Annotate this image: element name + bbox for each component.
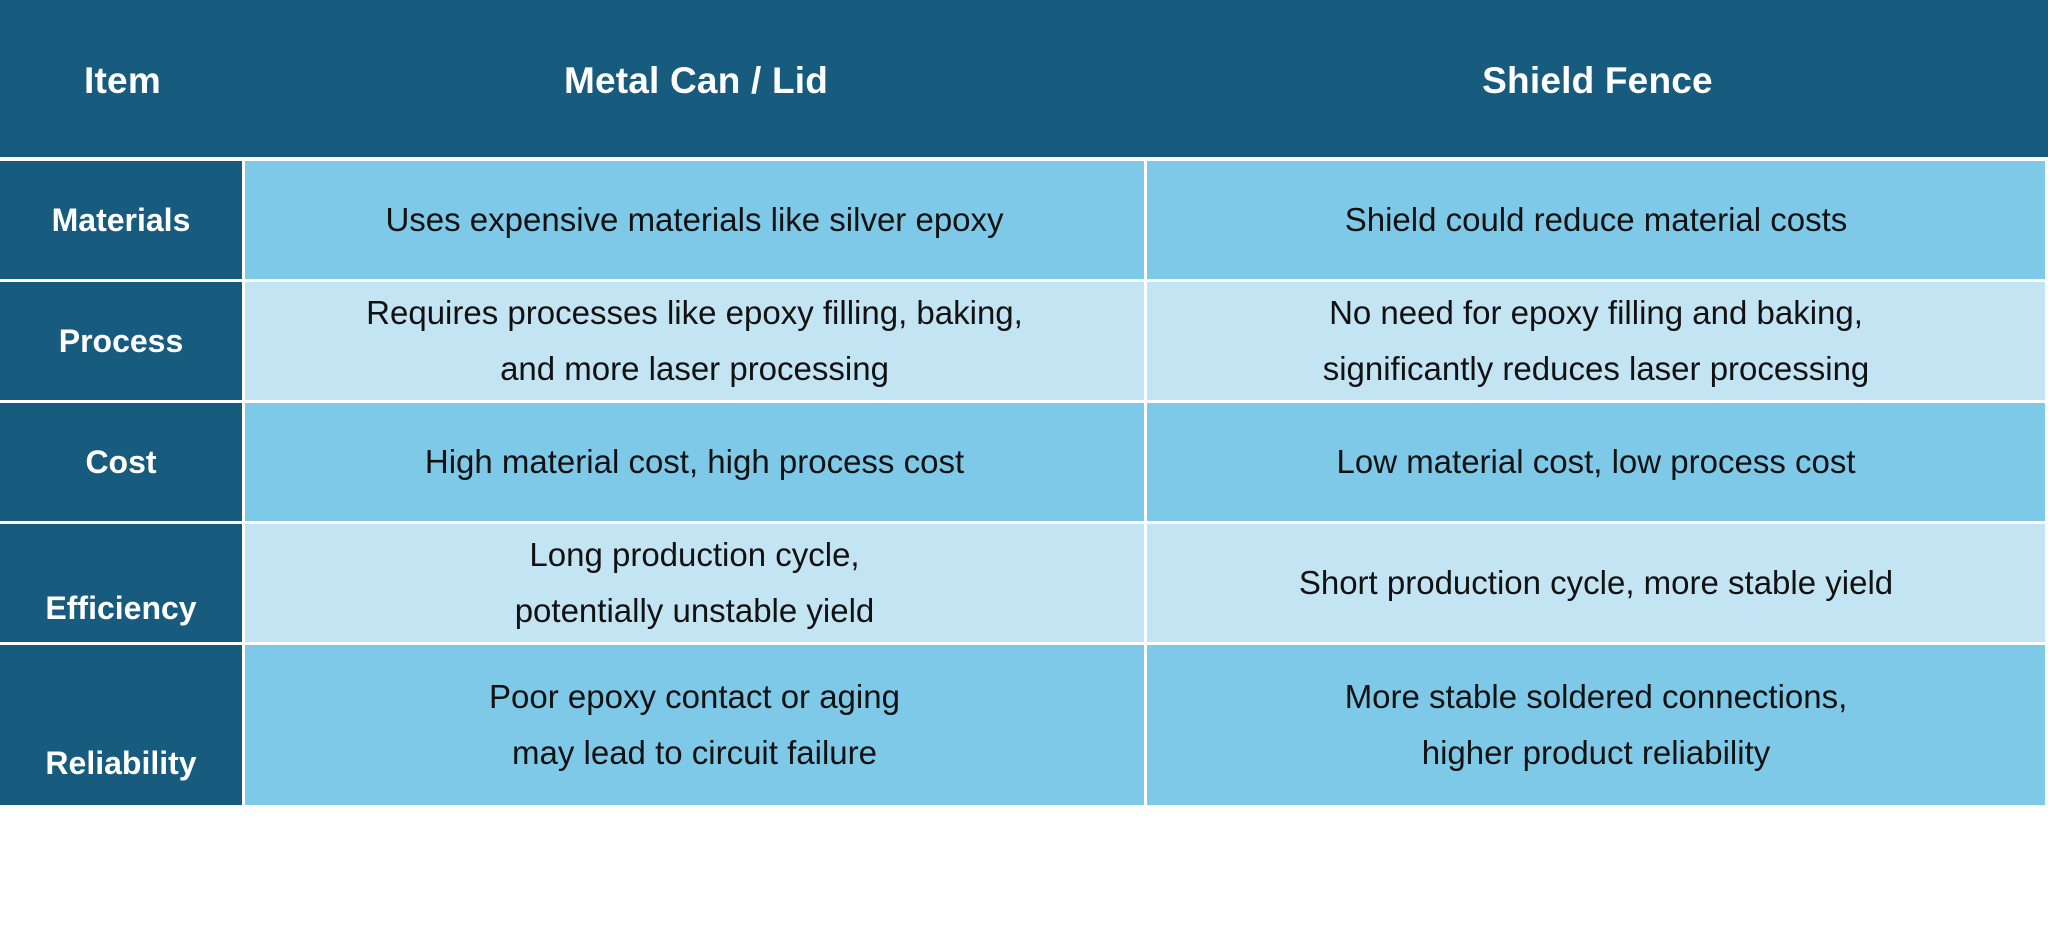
cell-efficiency-shield: Short production cycle, more stable yiel…: [1147, 524, 2045, 642]
cell-text: Poor epoxy contact or aging may lead to …: [263, 669, 1126, 781]
cell-reliability-shield: More stable soldered connections, higher…: [1147, 645, 2045, 805]
cell-text: High material cost, high process cost: [263, 434, 1126, 490]
column-header-metal-can-lid: Metal Can / Lid: [245, 0, 1147, 157]
cell-cost-metal: High material cost, high process cost: [245, 403, 1147, 521]
row-label-process: Process: [0, 282, 245, 400]
table-row: Efficiency Long production cycle, potent…: [0, 524, 2048, 645]
cell-text: More stable soldered connections, higher…: [1165, 669, 2027, 781]
column-header-item: Item: [0, 0, 245, 157]
cell-materials-shield: Shield could reduce material costs: [1147, 161, 2045, 279]
cell-process-shield: No need for epoxy filling and baking, si…: [1147, 282, 2045, 400]
table-body: Materials Uses expensive materials like …: [0, 161, 2048, 941]
cell-text: Long production cycle, potentially unsta…: [263, 527, 1126, 639]
cell-text: Requires processes like epoxy filling, b…: [263, 285, 1126, 397]
table-header-row: Item Metal Can / Lid Shield Fence: [0, 0, 2048, 157]
table-row: Cost High material cost, high process co…: [0, 403, 2048, 524]
row-label-materials: Materials: [0, 161, 245, 279]
row-label-reliability: Reliability: [0, 645, 245, 805]
cell-text: Short production cycle, more stable yiel…: [1165, 555, 2027, 611]
table-row: Process Requires processes like epoxy fi…: [0, 282, 2048, 403]
cell-reliability-metal: Poor epoxy contact or aging may lead to …: [245, 645, 1147, 805]
column-header-shield-fence: Shield Fence: [1147, 0, 2048, 157]
row-label-cost: Cost: [0, 403, 245, 521]
cell-text: Low material cost, low process cost: [1165, 434, 2027, 490]
table-row: Reliability Poor epoxy contact or aging …: [0, 645, 2048, 805]
cell-text: Shield could reduce material costs: [1165, 192, 2027, 248]
table-row: Materials Uses expensive materials like …: [0, 161, 2048, 282]
cell-materials-metal: Uses expensive materials like silver epo…: [245, 161, 1147, 279]
cell-text: Uses expensive materials like silver epo…: [263, 192, 1126, 248]
cell-text: No need for epoxy filling and baking, si…: [1165, 285, 2027, 397]
cell-cost-shield: Low material cost, low process cost: [1147, 403, 2045, 521]
comparison-table: Item Metal Can / Lid Shield Fence Materi…: [0, 0, 2048, 941]
cell-efficiency-metal: Long production cycle, potentially unsta…: [245, 524, 1147, 642]
row-label-efficiency: Efficiency: [0, 524, 245, 642]
cell-process-metal: Requires processes like epoxy filling, b…: [245, 282, 1147, 400]
